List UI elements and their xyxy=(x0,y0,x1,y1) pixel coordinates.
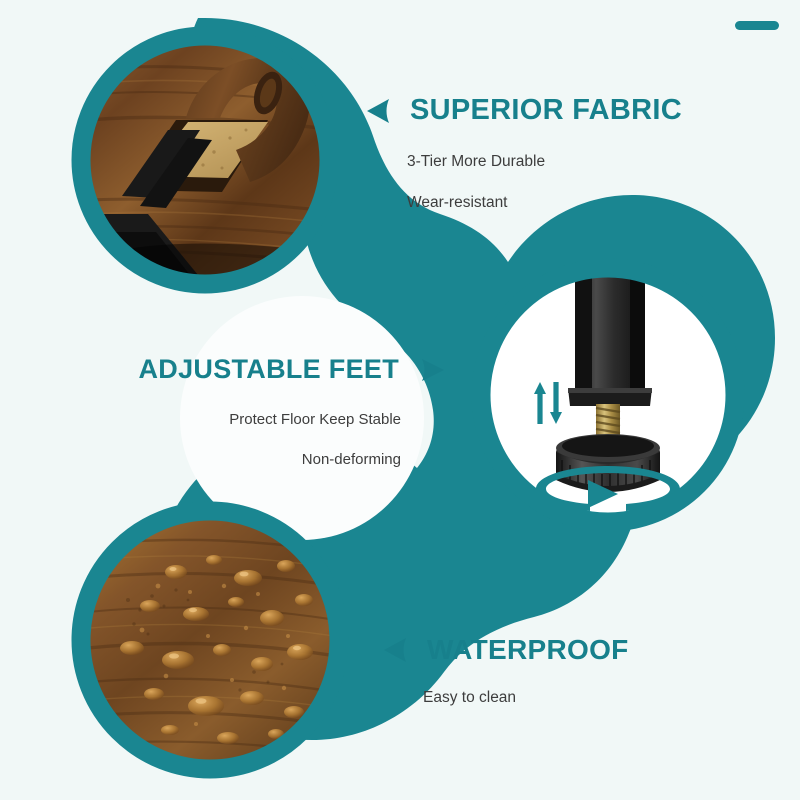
feature-subtitle-protect-floor-keep-stable: Protect Floor Keep Stable xyxy=(110,412,401,427)
left-triangle-icon xyxy=(366,98,390,124)
infographic-canvas: SUPERIOR FABRIC 3-Tier More Durable Wear… xyxy=(0,0,800,800)
feature-title-adjustable-feet: ADJUSTABLE FEET xyxy=(138,356,399,383)
right-triangle-icon xyxy=(421,358,445,382)
feature-block-waterproof: WATERPROOF Easy to clean xyxy=(383,636,763,706)
left-triangle-icon xyxy=(383,637,407,663)
corner-pill-mark xyxy=(735,21,779,30)
feature-subtitle-3-tier-more-durable: 3-Tier More Durable xyxy=(407,154,766,170)
feature-title-superior-fabric: SUPERIOR FABRIC xyxy=(410,96,682,125)
furniture-leg xyxy=(568,276,652,406)
feature-subtitle-easy-to-clean: Easy to clean xyxy=(423,690,763,706)
feature-title-waterproof: WATERPROOF xyxy=(427,636,629,664)
feature-block-adjustable-feet: ADJUSTABLE FEET Protect Floor Keep Stabl… xyxy=(110,356,445,467)
leveling-foot-base xyxy=(556,434,660,492)
feature-subtitle-wear-resistant: Wear-resistant xyxy=(407,195,766,211)
feature-block-superior-fabric: SUPERIOR FABRIC 3-Tier More Durable Wear… xyxy=(366,96,766,210)
feature-subtitle-non-deforming: Non-deforming xyxy=(110,452,401,467)
